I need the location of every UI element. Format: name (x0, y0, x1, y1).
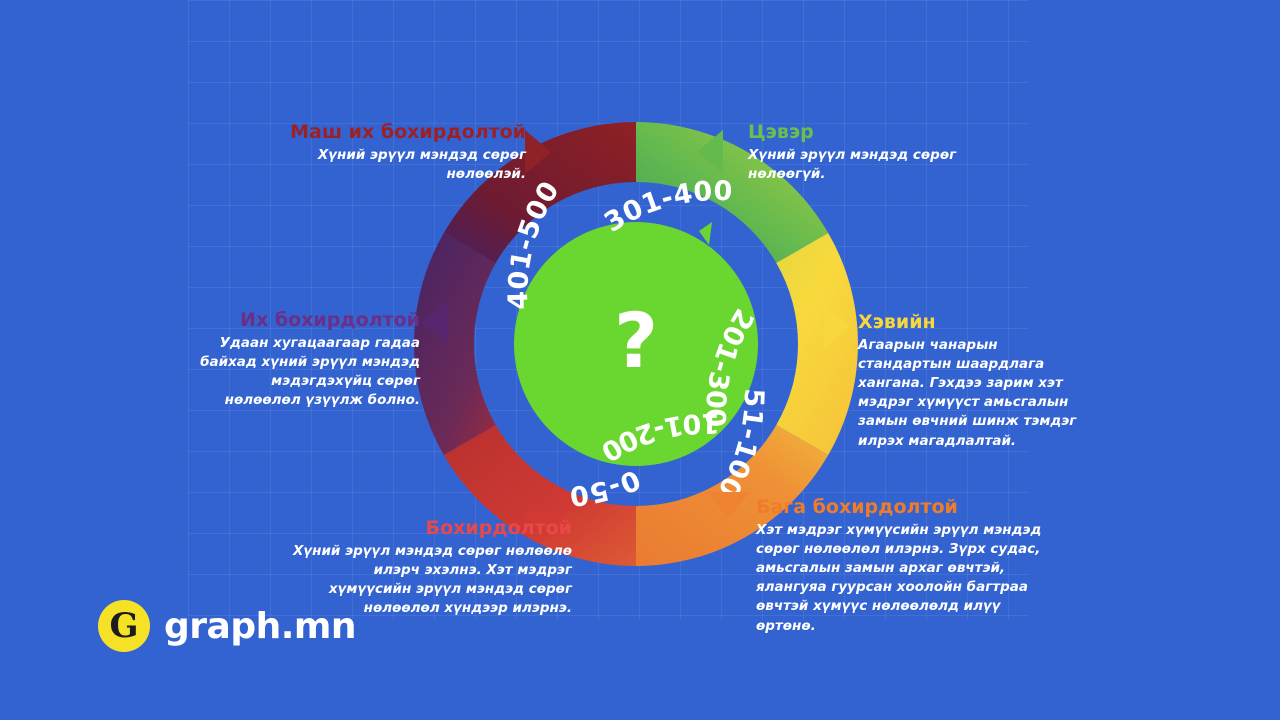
callout-very-unhealthy: Их бохирдолтой Удаан хугацаагаар гадаа б… (198, 310, 420, 410)
callout-body-very-unhealthy: Удаан хугацаагаар гадаа байхад хүний эрү… (198, 334, 420, 411)
callout-unhealthy-sensitive: Бага бохирдолтой Хэт мэдрэг хүмүүсийн эр… (756, 497, 1046, 636)
brand-logo[interactable]: G graph.mn (98, 600, 356, 652)
logo-wordmark: graph.mn (164, 606, 356, 647)
segment-51-100[interactable] (776, 233, 858, 455)
callout-title-unhealthy: Бохирдолтой (290, 518, 572, 540)
callout-title-unhealthy-sensitive: Бага бохирдолтой (756, 497, 1046, 519)
callout-body-unhealthy-sensitive: Хэт мэдрэг хүмүүсийн эрүүл мэндэд сөрөг … (756, 521, 1046, 636)
callout-body-moderate: Агаарын чанарын стандартын шаардлага хан… (858, 336, 1086, 451)
callout-title-very-unhealthy: Их бохирдолтой (198, 310, 420, 332)
callout-title-moderate: Хэвийн (858, 312, 1086, 334)
infographic-canvas: ? 0-50 51-100 101-200 201-300 301-400 40… (0, 0, 1280, 720)
callout-title-good: Цэвэр (748, 122, 998, 144)
callout-body-good: Хүний эрүүл мэндэд сөрөг нөлөөгүй. (748, 146, 998, 184)
logo-mark-letter: G (109, 609, 138, 643)
segment-301-400[interactable] (414, 233, 496, 455)
logo-mark-icon: G (98, 600, 150, 652)
callout-good: Цэвэр Хүний эрүүл мэндэд сөрөг нөлөөгүй. (748, 122, 998, 184)
ring-label-0-50: 0-50 (567, 463, 644, 511)
callout-hazardous: Маш их бохирдолтой Хүний эрүүл мэндэд сө… (236, 122, 526, 184)
callout-title-hazardous: Маш их бохирдолтой (236, 122, 526, 144)
callout-moderate: Хэвийн Агаарын чанарын стандартын шаардл… (858, 312, 1086, 451)
callout-body-hazardous: Хүний эрүүл мэндэд сөрөг нөлөөлэй. (236, 146, 526, 184)
center-question-mark: ? (614, 296, 658, 385)
